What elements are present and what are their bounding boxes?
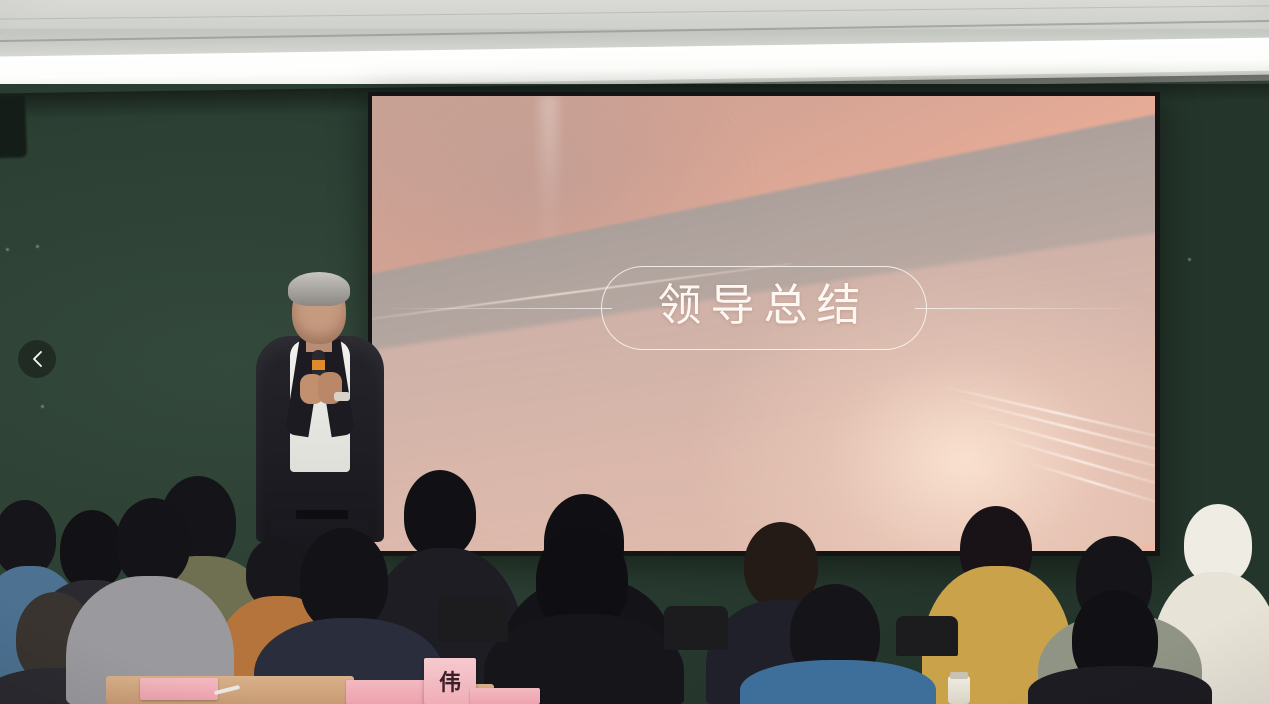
presenter-watch — [334, 392, 350, 401]
wall-speck — [6, 248, 9, 251]
wall-speck — [41, 405, 44, 408]
notebook — [140, 678, 218, 700]
photo-viewer: 领导总结 — [0, 0, 1269, 704]
chair-back — [664, 606, 728, 650]
chair-back — [438, 596, 508, 642]
ceiling-seam — [0, 20, 1269, 42]
bottle-cap — [950, 672, 968, 679]
notebook — [346, 680, 430, 704]
wall-speck — [1188, 258, 1191, 261]
projection-screen-frame: 领导总结 — [368, 92, 1160, 556]
chevron-left-icon — [31, 350, 44, 368]
projection-screen: 领导总结 — [372, 96, 1155, 551]
wall-speck — [36, 245, 39, 248]
water-bottle — [948, 676, 970, 704]
slide-title-group: 领导总结 — [372, 260, 1155, 356]
ceiling-seam — [0, 5, 1269, 19]
chair-back — [896, 616, 958, 656]
desk-nameplate: 伟 — [424, 658, 476, 704]
wall-speaker — [0, 95, 27, 158]
notebook — [470, 688, 540, 704]
presenter-belt — [296, 510, 348, 519]
microphone-band — [312, 360, 325, 370]
slide-title-rule-right — [915, 308, 1147, 309]
presenter-hair — [288, 272, 350, 306]
previous-image-button[interactable] — [18, 340, 56, 378]
slide-title: 领导总结 — [601, 266, 927, 350]
slide-title-rule-left — [380, 308, 612, 309]
